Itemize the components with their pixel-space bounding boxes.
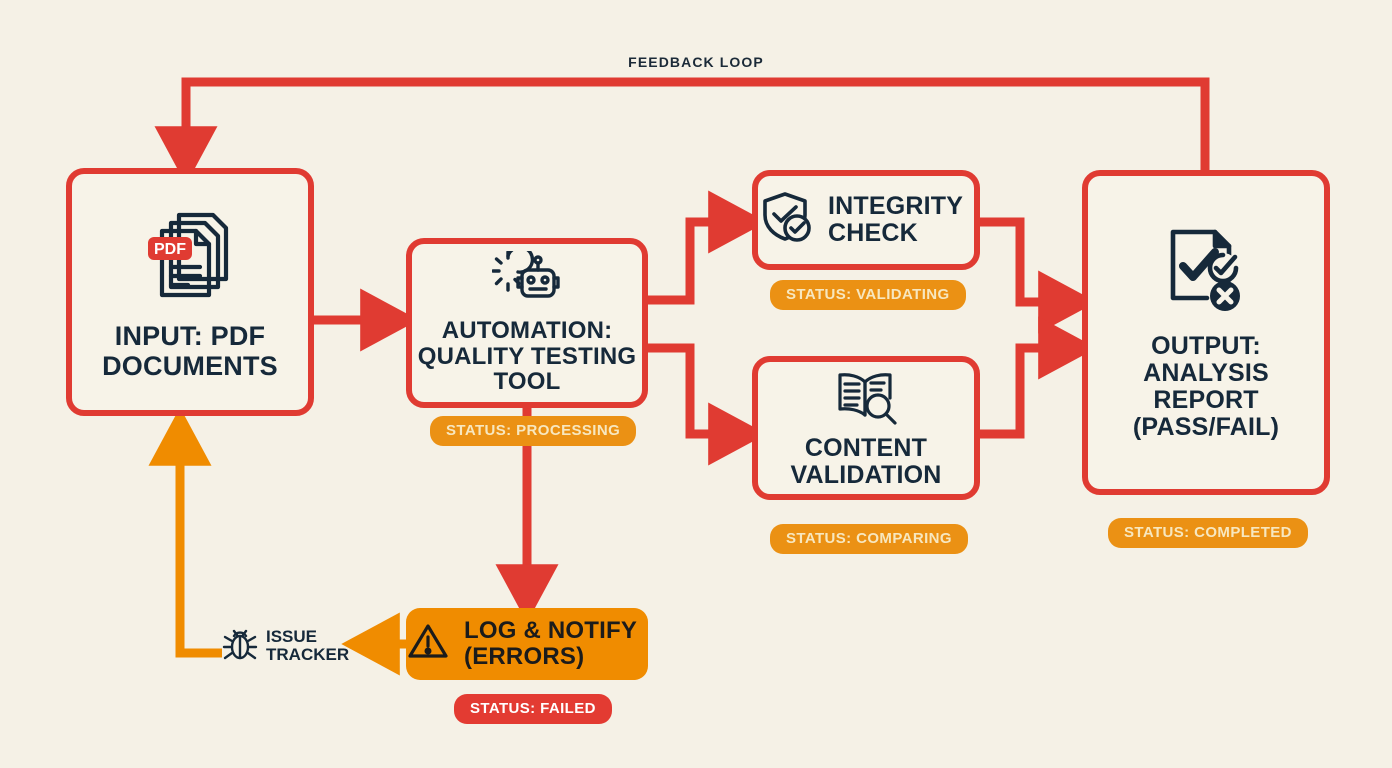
wire-automation-to-integrity: [648, 222, 728, 300]
node-log-and-notify[interactable]: LOG & NOTIFY (ERRORS): [406, 608, 648, 680]
status-badge-content: STATUS: COMPARING: [770, 524, 968, 554]
status-badge-integrity: STATUS: VALIDATING: [770, 280, 966, 310]
node-input-pdf-documents[interactable]: PDF INPUT: PDF DOCUMENTS: [66, 168, 314, 416]
wire-feedback-loop: [186, 82, 1205, 170]
node-input-label: INPUT: PDF DOCUMENTS: [72, 322, 308, 380]
wire-content-to-output: [980, 348, 1058, 434]
node-log-label: LOG & NOTIFY (ERRORS): [464, 618, 648, 670]
wire-automation-to-content: [648, 348, 728, 434]
shield-check-icon: [758, 189, 816, 252]
status-badge-log: STATUS: FAILED: [454, 694, 612, 724]
node-output-analysis-report[interactable]: OUTPUT: ANALYSIS REPORT (PASS/FAIL): [1082, 170, 1330, 495]
book-magnifier-icon: [831, 368, 901, 431]
node-output-label: OUTPUT: ANALYSIS REPORT (PASS/FAIL): [1088, 333, 1324, 441]
pdf-documents-icon: PDF: [138, 203, 242, 312]
node-automation-label: AUTOMATION: QUALITY TESTING TOOL: [412, 318, 642, 396]
node-issue-tracker[interactable]: ISSUE TRACKER: [222, 620, 352, 672]
status-badge-output: STATUS: COMPLETED: [1108, 518, 1308, 548]
wire-issue-tracker-to-input: [180, 446, 222, 653]
node-integrity-label: INTEGRITY CHECK: [828, 193, 974, 247]
bug-icon: [222, 625, 258, 668]
wire-integrity-to-output: [980, 222, 1058, 302]
diagram-canvas: FEEDBACK LOOP PDF INPUT: PDF DOCUMENTS: [0, 0, 1392, 768]
issue-tracker-label: ISSUE TRACKER: [266, 628, 352, 664]
feedback-loop-label: FEEDBACK LOOP: [0, 54, 1392, 70]
node-integrity-check[interactable]: INTEGRITY CHECK: [752, 170, 980, 270]
svg-text:PDF: PDF: [154, 241, 186, 258]
status-badge-automation: STATUS: PROCESSING: [430, 416, 636, 446]
node-content-label: CONTENT VALIDATION: [758, 435, 974, 489]
document-check-cross-icon: [1163, 224, 1249, 319]
warning-triangle-icon: [406, 620, 450, 669]
node-automation-quality-testing-tool[interactable]: AUTOMATION: QUALITY TESTING TOOL: [406, 238, 648, 408]
node-content-validation[interactable]: CONTENT VALIDATION: [752, 356, 980, 500]
gear-robot-icon: [492, 251, 562, 314]
